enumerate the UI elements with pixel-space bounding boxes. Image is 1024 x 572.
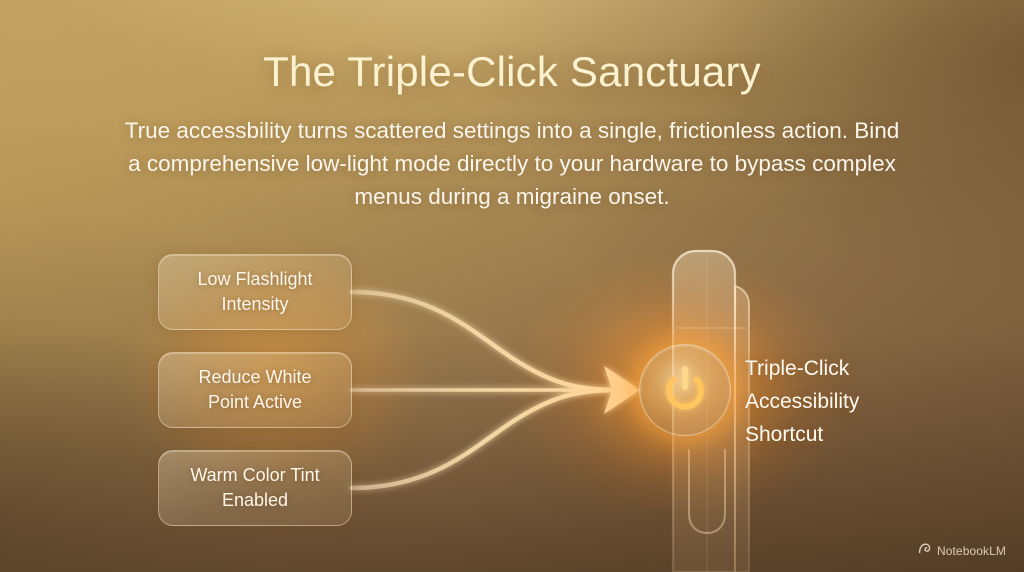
source-card-low-flashlight-intensity[interactable]: Low Flashlight Intensity <box>158 254 352 330</box>
power-icon <box>639 344 731 436</box>
slide-canvas: The Triple-Click Sanctuary True accessbi… <box>0 0 1024 572</box>
notebooklm-logo-icon <box>918 541 932 560</box>
source-card-label: Reduce White Point Active <box>188 365 321 415</box>
source-card-reduce-white-point-active[interactable]: Reduce White Point Active <box>158 352 352 428</box>
watermark: NotebookLM <box>918 541 1006 560</box>
source-card-label-line2: Enabled <box>222 490 288 510</box>
power-button-node[interactable] <box>639 344 731 436</box>
target-label-line1: Triple-Click <box>745 352 925 385</box>
target-label-line2: Accessibility <box>745 385 925 418</box>
source-card-warm-color-tint-enabled[interactable]: Warm Color Tint Enabled <box>158 450 352 526</box>
source-card-label-line2: Point Active <box>208 392 302 412</box>
source-card-label: Low Flashlight Intensity <box>187 267 322 317</box>
source-card-list: Low Flashlight Intensity Reduce White Po… <box>158 254 352 526</box>
watermark-text: NotebookLM <box>937 544 1006 558</box>
target-node-label: Triple-Click Accessibility Shortcut <box>745 352 925 451</box>
source-card-label-line1: Warm Color Tint <box>190 465 319 485</box>
source-card-label-line1: Reduce White <box>198 367 311 387</box>
page-subtitle: True accessbility turns scattered settin… <box>117 114 907 213</box>
source-card-label-line1: Low Flashlight <box>197 269 312 289</box>
page-title: The Triple-Click Sanctuary <box>0 48 1024 96</box>
target-label-line3: Shortcut <box>745 418 925 451</box>
header: The Triple-Click Sanctuary True accessbi… <box>0 48 1024 213</box>
source-card-label: Warm Color Tint Enabled <box>180 463 329 513</box>
source-card-label-line2: Intensity <box>221 294 288 314</box>
